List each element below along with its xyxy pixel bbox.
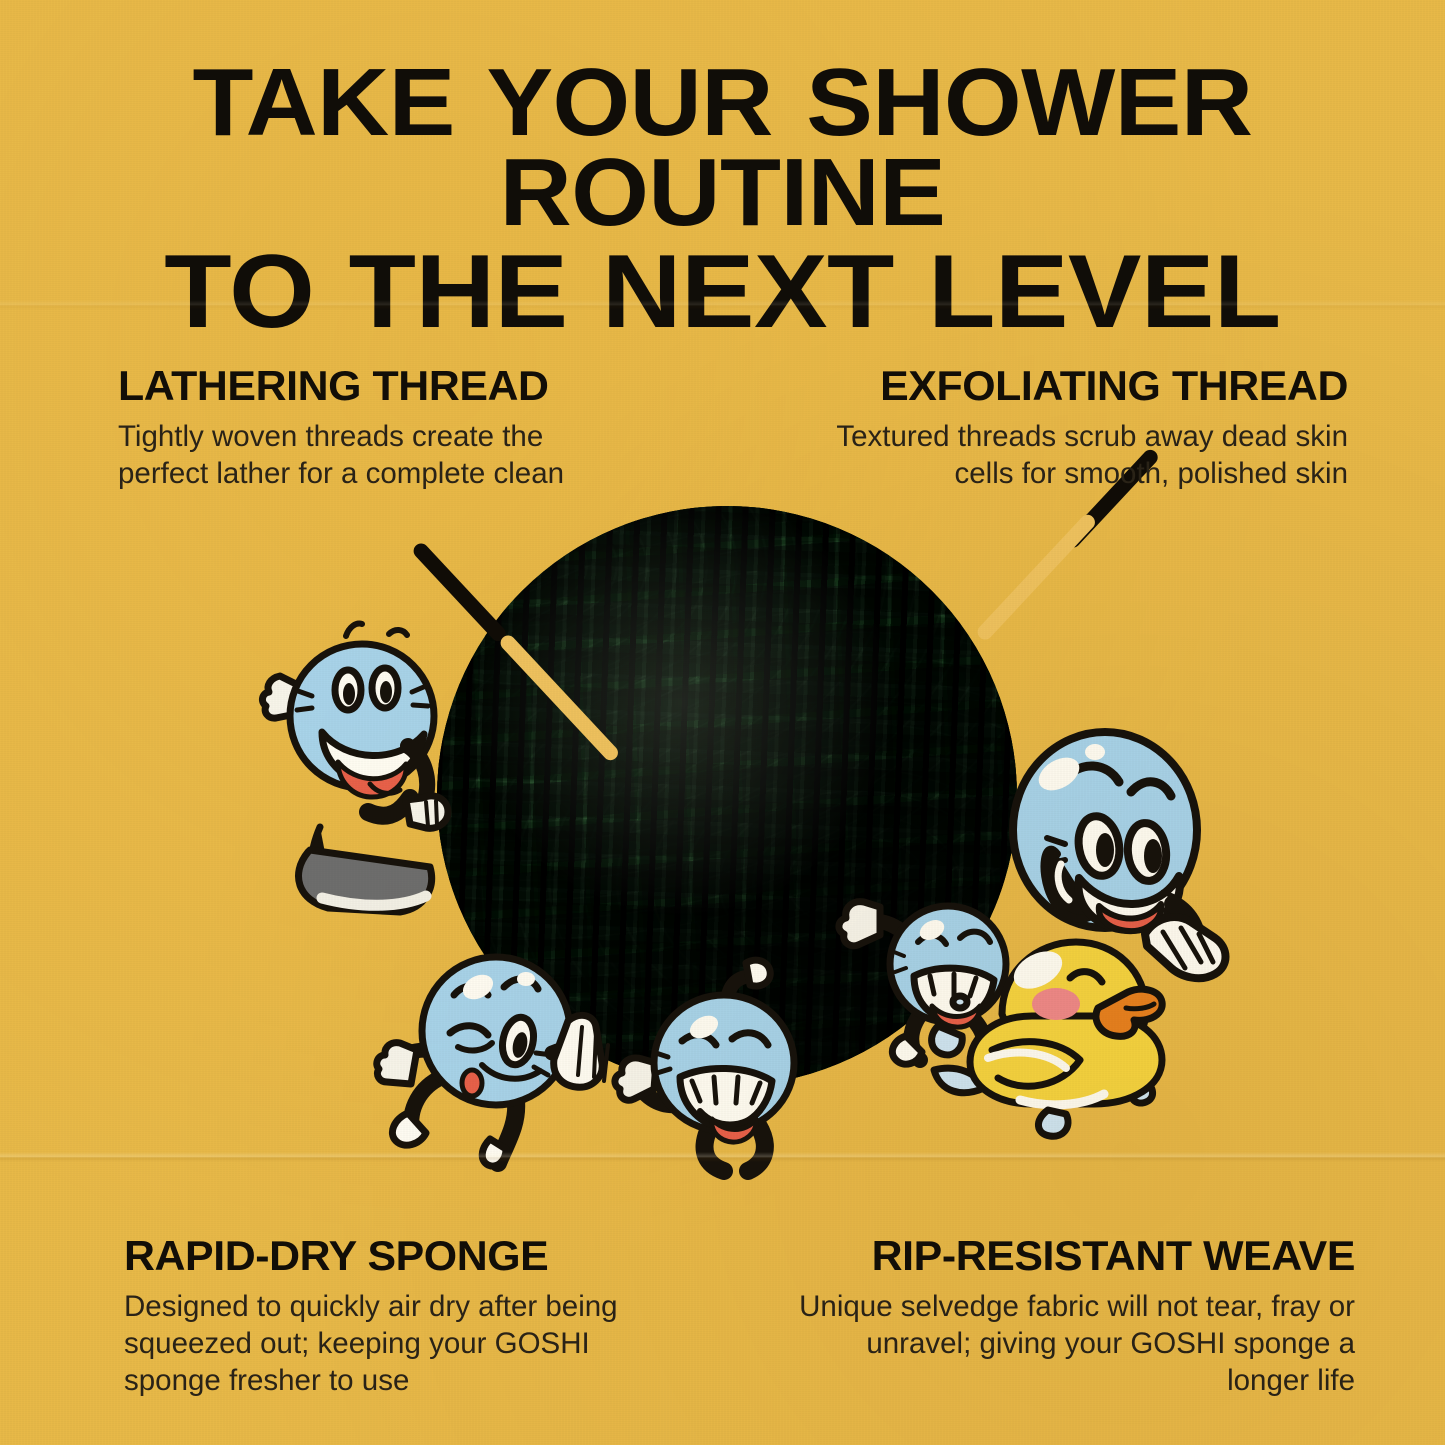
rubber-duck [930,930,1165,1145]
feature-body-rip-resistant: Unique selvedge fabric will not tear, fr… [795,1288,1355,1399]
feature-rapid-dry-sponge: RAPID-DRY SPONGE Designed to quickly air… [124,1232,644,1399]
page-title: TAKE YOUR SHOWER ROUTINE TO THE NEXT LEV… [0,58,1445,342]
bubble-mascot-laughing [620,985,825,1170]
bubble-mascot-winking [386,925,626,1170]
feature-body-exfoliating: Textured threads scrub away dead skin ce… [788,418,1348,492]
feature-title-exfoliating: EXFOLIATING THREAD [777,362,1348,410]
headline-line-2: TO THE NEXT LEVEL [0,244,1445,342]
feature-title-rip-resistant: RIP-RESISTANT WEAVE [784,1232,1355,1280]
feature-title-lathering: LATHERING THREAD [118,362,648,410]
feature-lathering-thread: LATHERING THREAD Tightly woven threads c… [118,362,638,492]
feature-body-rapid-dry: Designed to quickly air dry after being … [124,1288,644,1399]
feature-body-lathering: Tightly woven threads create the perfect… [118,418,638,492]
feature-title-rapid-dry: RAPID-DRY SPONGE [124,1232,654,1280]
feature-rip-resistant-weave: RIP-RESISTANT WEAVE Unique selvedge fabr… [795,1232,1355,1399]
bubble-mascot-waving [250,612,465,927]
product-feature-poster: TAKE YOUR SHOWER ROUTINE TO THE NEXT LEV… [0,0,1445,1445]
headline-line-1: TAKE YOUR SHOWER ROUTINE [0,58,1445,238]
feature-exfoliating-thread: EXFOLIATING THREAD Textured threads scru… [788,362,1348,492]
